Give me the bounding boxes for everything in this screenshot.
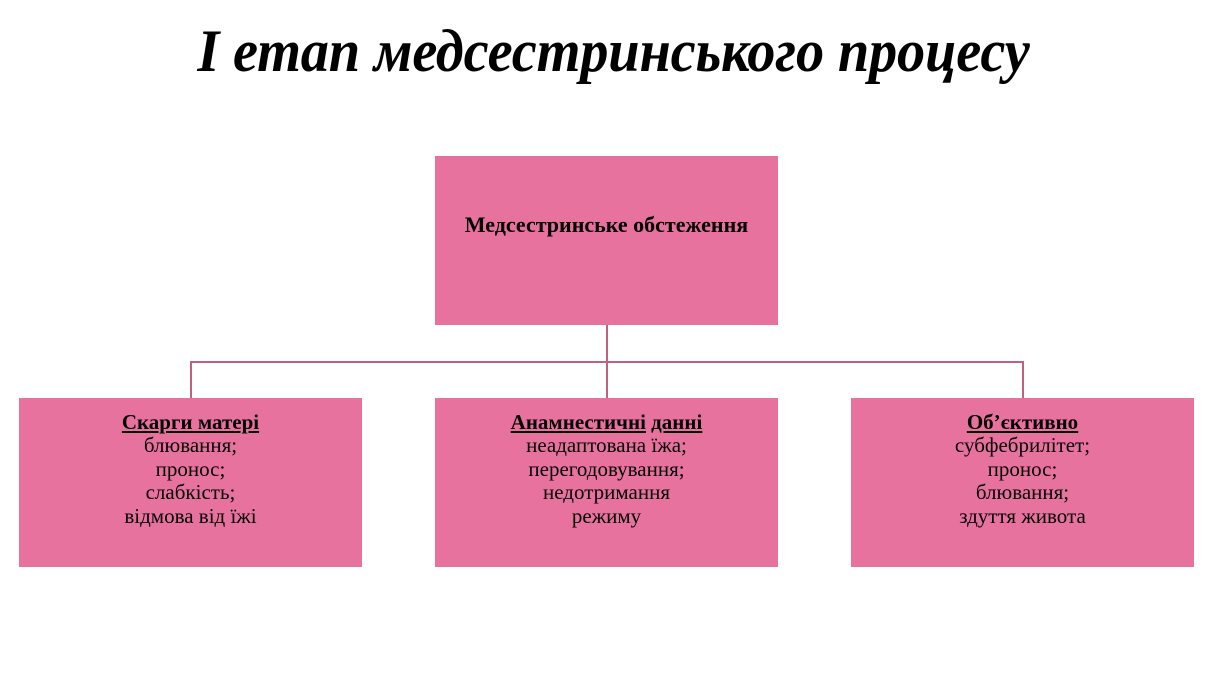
list-item: пронос; bbox=[859, 458, 1186, 482]
node-heading: Скарги матері bbox=[27, 410, 354, 434]
node-heading-text: Об’єктивно bbox=[967, 410, 1078, 434]
list-item: неадаптована їжа; bbox=[443, 434, 770, 458]
list-item: відмова від їжі bbox=[27, 505, 354, 529]
node-item-list: блювання; пронос; слабкість; відмова від… bbox=[27, 434, 354, 528]
node-content: Анамнестичні данні неадаптована їжа; пер… bbox=[435, 410, 778, 528]
list-item: пронос; bbox=[27, 458, 354, 482]
page-title: І етап медсестринського процесу bbox=[37, 16, 1190, 86]
node-mother-complaints[interactable]: Скарги матері блювання; пронос; слабкіст… bbox=[19, 398, 362, 567]
node-heading: Медсестринське обстеження bbox=[443, 212, 770, 238]
list-item: перегодовування; bbox=[443, 458, 770, 482]
node-heading: Об’єктивно bbox=[859, 410, 1186, 434]
node-item-list: неадаптована їжа; перегодовування; недот… bbox=[443, 434, 770, 528]
connector-left-drop bbox=[190, 361, 192, 399]
list-item: режиму bbox=[443, 505, 770, 529]
node-heading: Анамнестичні данні bbox=[443, 410, 770, 434]
node-heading-line-1: Медсестринське bbox=[465, 212, 628, 237]
connector-horizontal-bus bbox=[190, 361, 1024, 363]
node-heading-text: Скарги матері bbox=[122, 410, 259, 434]
node-heading-line-1: Анамнестичні bbox=[511, 410, 646, 434]
node-heading-line-2: обстеження bbox=[633, 212, 748, 237]
node-objective-findings[interactable]: Об’єктивно субфебрилітет; пронос; блюван… bbox=[851, 398, 1194, 567]
list-item: здуття живота bbox=[859, 505, 1186, 529]
list-item: субфебрилітет; bbox=[859, 434, 1186, 458]
node-heading-line-2: данні bbox=[651, 410, 702, 434]
node-nursing-assessment[interactable]: Медсестринське обстеження bbox=[435, 156, 778, 325]
node-content: Скарги матері блювання; пронос; слабкіст… bbox=[19, 410, 362, 528]
node-anamnestic-data[interactable]: Анамнестичні данні неадаптована їжа; пер… bbox=[435, 398, 778, 567]
connector-right-drop bbox=[1022, 361, 1024, 399]
slide-canvas: І етап медсестринського процесу Медсестр… bbox=[0, 0, 1227, 677]
list-item: слабкість; bbox=[27, 481, 354, 505]
node-content: Об’єктивно субфебрилітет; пронос; блюван… bbox=[851, 410, 1194, 528]
node-content: Медсестринське обстеження bbox=[435, 212, 778, 238]
node-item-list: субфебрилітет; пронос; блювання; здуття … bbox=[859, 434, 1186, 528]
list-item: блювання; bbox=[27, 434, 354, 458]
list-item: блювання; bbox=[859, 481, 1186, 505]
list-item: недотримання bbox=[443, 481, 770, 505]
